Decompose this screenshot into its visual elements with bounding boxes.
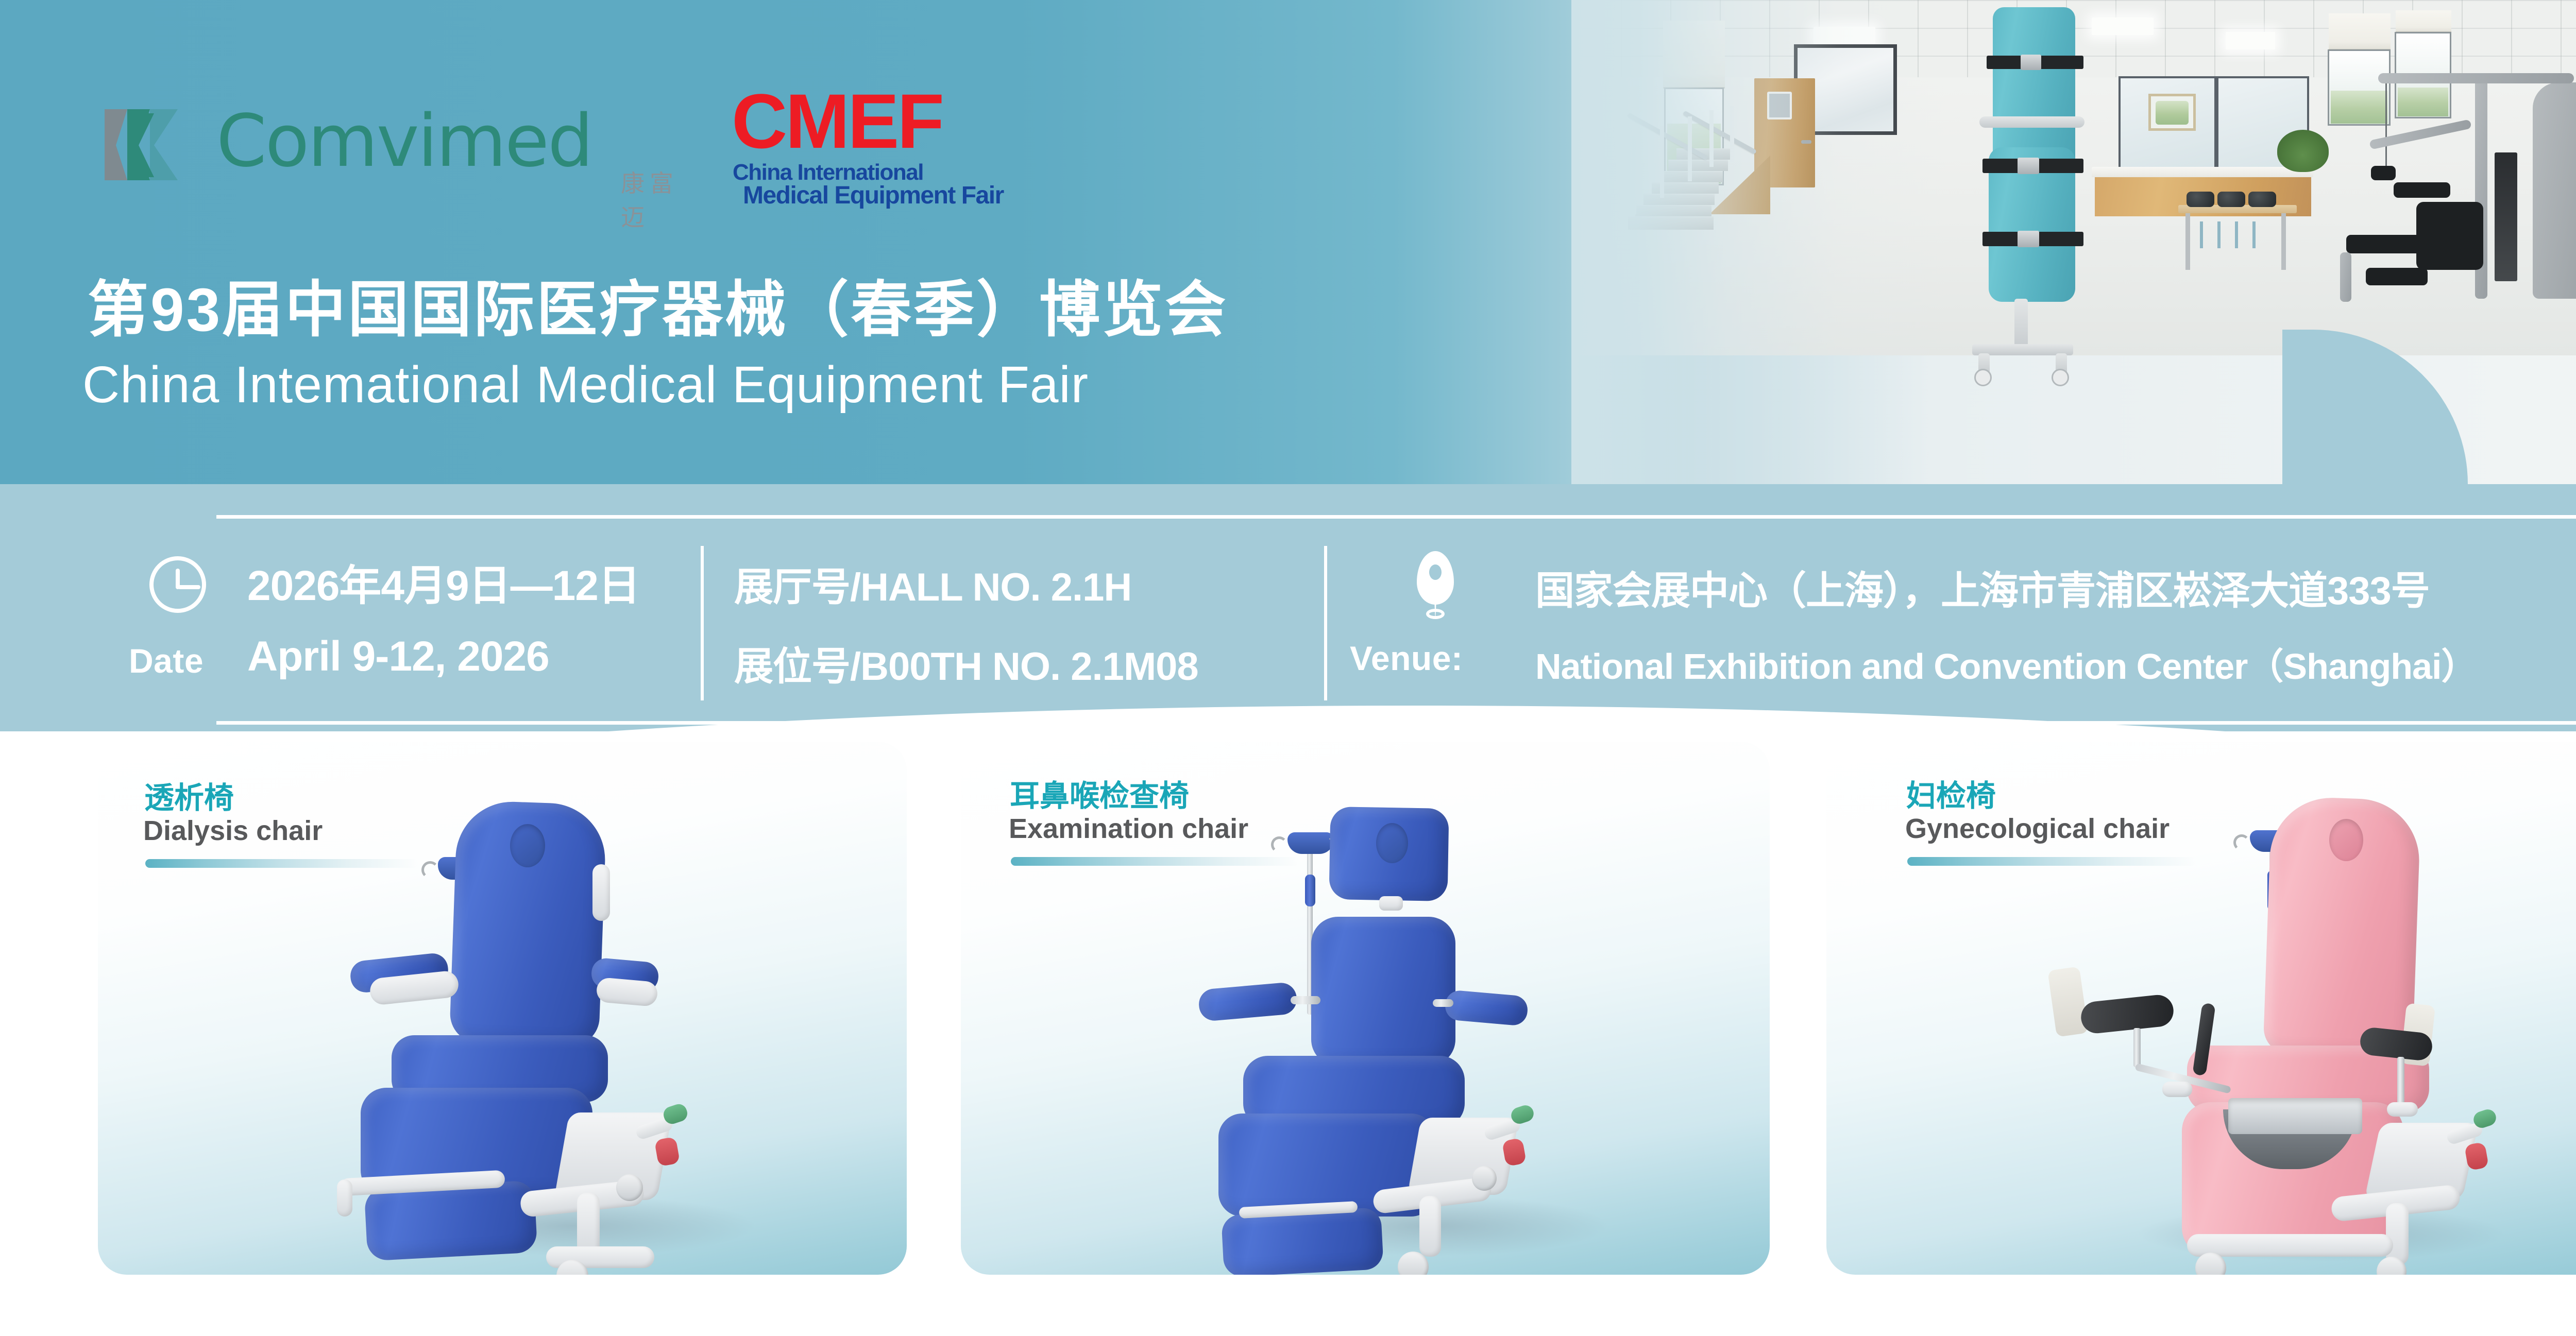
product-underline-bar <box>145 859 418 868</box>
cmef-exhibition-banner: Comvimed 康富迈 CMEF China International Me… <box>0 0 2576 1336</box>
cmef-subtitle-line2: Medical Equipment Fair <box>743 181 1004 210</box>
product-name-english: Gynecological chair <box>1905 813 2170 845</box>
cmef-acronym: CMEF <box>732 82 942 160</box>
product-name-english: Examination chair <box>1009 813 1248 845</box>
comvimed-diamond-mark <box>100 98 198 191</box>
product-underline-bar <box>1011 857 1299 866</box>
product-underline-bar <box>1907 857 2196 866</box>
date-value-chinese: 2026年4月9日—12日 <box>247 551 640 612</box>
product-card-row: 透析椅 Dialysis chair <box>0 742 2576 1277</box>
date-value-english: April 9-12, 2026 <box>247 632 549 681</box>
comvimed-wordmark: Comvimed <box>216 99 592 183</box>
product-card-gynecological[interactable]: 妇检椅 Gynecological chair <box>1826 742 2576 1275</box>
product-name-english: Dialysis chair <box>143 815 323 847</box>
location-pin-icon <box>1412 551 1459 623</box>
cmef-logo: CMEF China International Medical Equipme… <box>732 82 1030 201</box>
venue-value-chinese: 国家会展中心（上海），上海市青浦区崧泽大道333号 <box>1535 559 2430 615</box>
product-card-examination[interactable]: 耳鼻喉检查椅 Examination chair <box>961 742 1770 1275</box>
venue-value-english: National Exhibition and Convention Cente… <box>1535 638 2477 690</box>
hall-number: 展厅号/HALL NO. 2.1H <box>734 555 1131 612</box>
page-title-english: China Intemational Medical Equipment Fai… <box>82 355 1089 415</box>
date-label: Date <box>129 641 204 680</box>
product-name-chinese: 耳鼻喉检查椅 <box>1010 772 1189 815</box>
comvimed-chinese-name: 康富迈 <box>621 165 693 233</box>
info-rule-top <box>216 515 2576 519</box>
product-card-dialysis[interactable]: 透析椅 Dialysis chair <box>98 742 907 1275</box>
booth-number: 展位号/B00TH NO. 2.1M08 <box>734 635 1198 691</box>
clock-icon <box>149 556 206 613</box>
info-divider-2 <box>1324 546 1327 700</box>
product-name-chinese: 透析椅 <box>144 774 234 817</box>
page-title-chinese: 第93届中国国际医疗器械（春季）博览会 <box>88 260 1228 348</box>
comvimed-logo: Comvimed 康富迈 <box>100 95 693 193</box>
info-divider-1 <box>701 546 704 700</box>
product-name-chinese: 妇检椅 <box>1906 772 1996 815</box>
venue-label: Venue: <box>1350 639 1463 678</box>
